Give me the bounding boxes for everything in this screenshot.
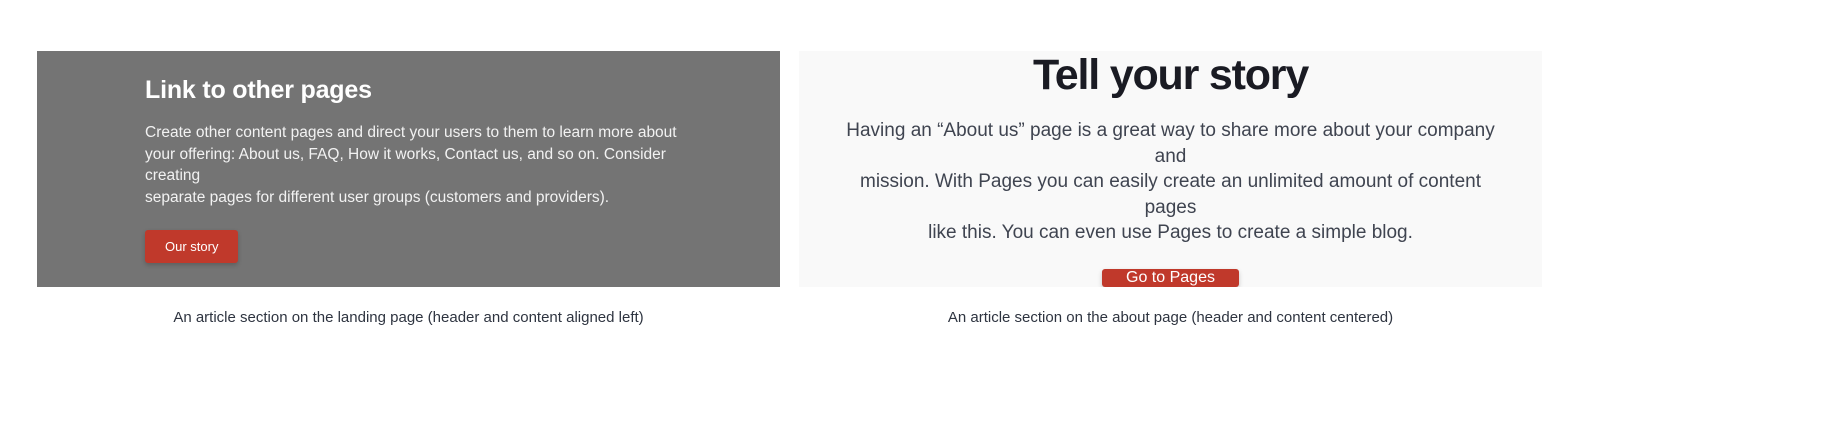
about-page-article-card: Tell your story Having an “About us” pag… — [799, 51, 1542, 287]
go-to-pages-button[interactable]: Go to Pages — [1102, 269, 1239, 287]
right-body-line-3: like this. You can even use Pages to cre… — [841, 220, 1501, 246]
left-card-caption: An article section on the landing page (… — [37, 287, 780, 328]
our-story-button[interactable]: Our story — [145, 230, 238, 263]
left-body-line-3: separate pages for different user groups… — [145, 187, 690, 209]
left-card-heading: Link to other pages — [145, 75, 372, 105]
left-column: Link to other pages Create other content… — [37, 51, 780, 328]
right-card-caption: An article section on the about page (he… — [799, 287, 1542, 328]
left-body-line-2: your offering: About us, FAQ, How it wor… — [145, 144, 690, 187]
panels-row: Link to other pages Create other content… — [0, 0, 1846, 328]
right-body-line-1: Having an “About us” page is a great way… — [841, 118, 1501, 169]
right-column: Tell your story Having an “About us” pag… — [799, 51, 1542, 328]
landing-page-article-card: Link to other pages Create other content… — [37, 51, 780, 287]
right-card-body: Having an “About us” page is a great way… — [841, 118, 1501, 246]
comparison-board: Link to other pages Create other content… — [0, 0, 1846, 430]
right-card-heading: Tell your story — [1033, 51, 1308, 100]
right-body-line-2: mission. With Pages you can easily creat… — [841, 169, 1501, 220]
left-card-body: Create other content pages and direct yo… — [145, 122, 690, 208]
left-body-line-1: Create other content pages and direct yo… — [145, 122, 690, 144]
